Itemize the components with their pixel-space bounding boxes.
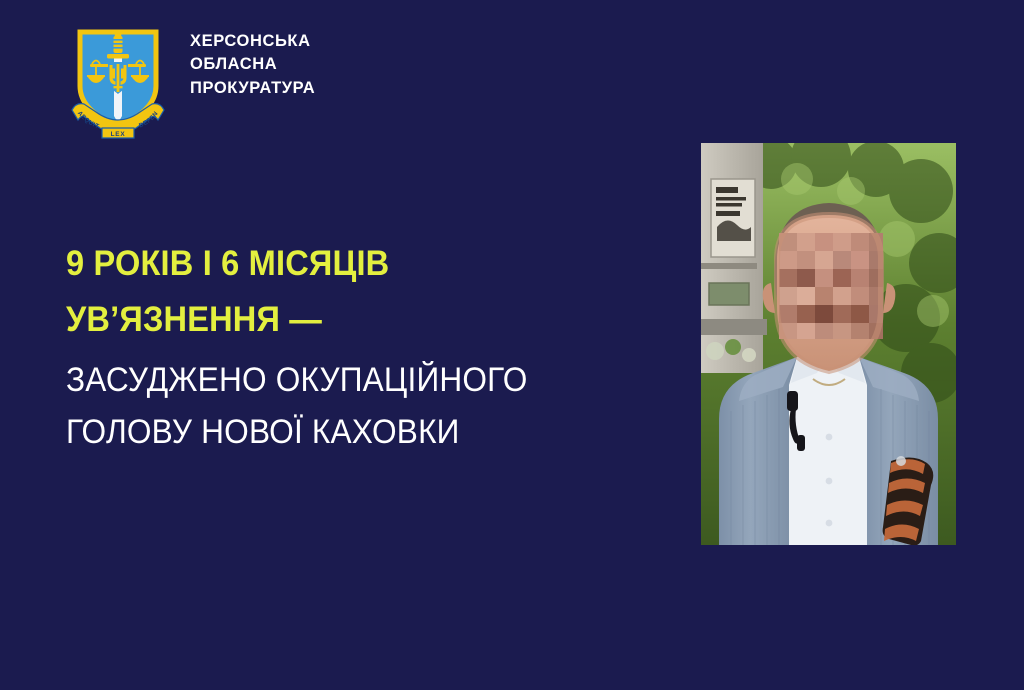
headline-plain-line-1: ЗАСУДЖЕНО ОКУПАЦІЙНОГО — [66, 354, 587, 406]
headline-accent-line-1: 9 РОКІВ І 6 МІСЯЦІВ — [66, 236, 587, 292]
prosecutor-office-emblem-icon: AEQUITAS DEFENSIO LEX — [66, 24, 170, 140]
face-pixelation — [779, 233, 883, 339]
subject-photo — [701, 143, 956, 545]
svg-text:LEX: LEX — [111, 131, 126, 138]
headline-plain-line-2: ГОЛОВУ НОВОЇ КАХОВКИ — [66, 406, 587, 458]
news-card: AEQUITAS DEFENSIO LEX ХЕРСОНСЬКА ОБЛАСНА… — [0, 0, 1024, 690]
subject-photo-image — [701, 143, 956, 545]
headline-block: 9 РОКІВ І 6 МІСЯЦІВ УВ’ЯЗНЕННЯ — ЗАСУДЖЕ… — [66, 236, 626, 458]
brand-line-3: ПРОКУРАТУРА — [190, 79, 315, 98]
brand-title: ХЕРСОНСЬКА ОБЛАСНА ПРОКУРАТУРА — [190, 32, 315, 98]
brand-header: AEQUITAS DEFENSIO LEX ХЕРСОНСЬКА ОБЛАСНА… — [66, 24, 315, 140]
brand-line-2: ОБЛАСНА — [190, 55, 315, 74]
headline-accent-line-2: УВ’ЯЗНЕННЯ — — [66, 292, 587, 348]
brand-line-1: ХЕРСОНСЬКА — [190, 32, 315, 51]
